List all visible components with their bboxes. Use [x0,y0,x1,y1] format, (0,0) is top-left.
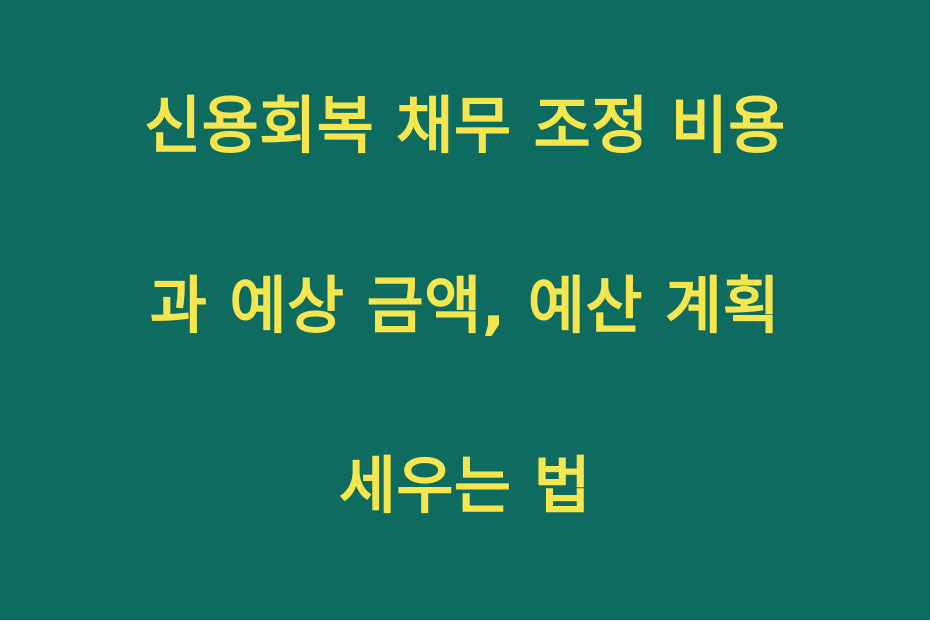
headline-line-1: 신용회복 채무 조정 비용 [60,81,870,171]
page-title: 신용회복 채무 조정 비용 과 예상 금액, 예산 계획 세우는 법 [60,0,870,621]
title-card: 신용회복 채무 조정 비용 과 예상 금액, 예산 계획 세우는 법 [0,0,930,620]
headline-line-3: 세우는 법 [60,441,870,531]
headline-line-2: 과 예상 금액, 예산 계획 [60,261,870,351]
headline-block: 신용회복 채무 조정 비용 과 예상 금액, 예산 계획 세우는 법 [60,0,870,621]
